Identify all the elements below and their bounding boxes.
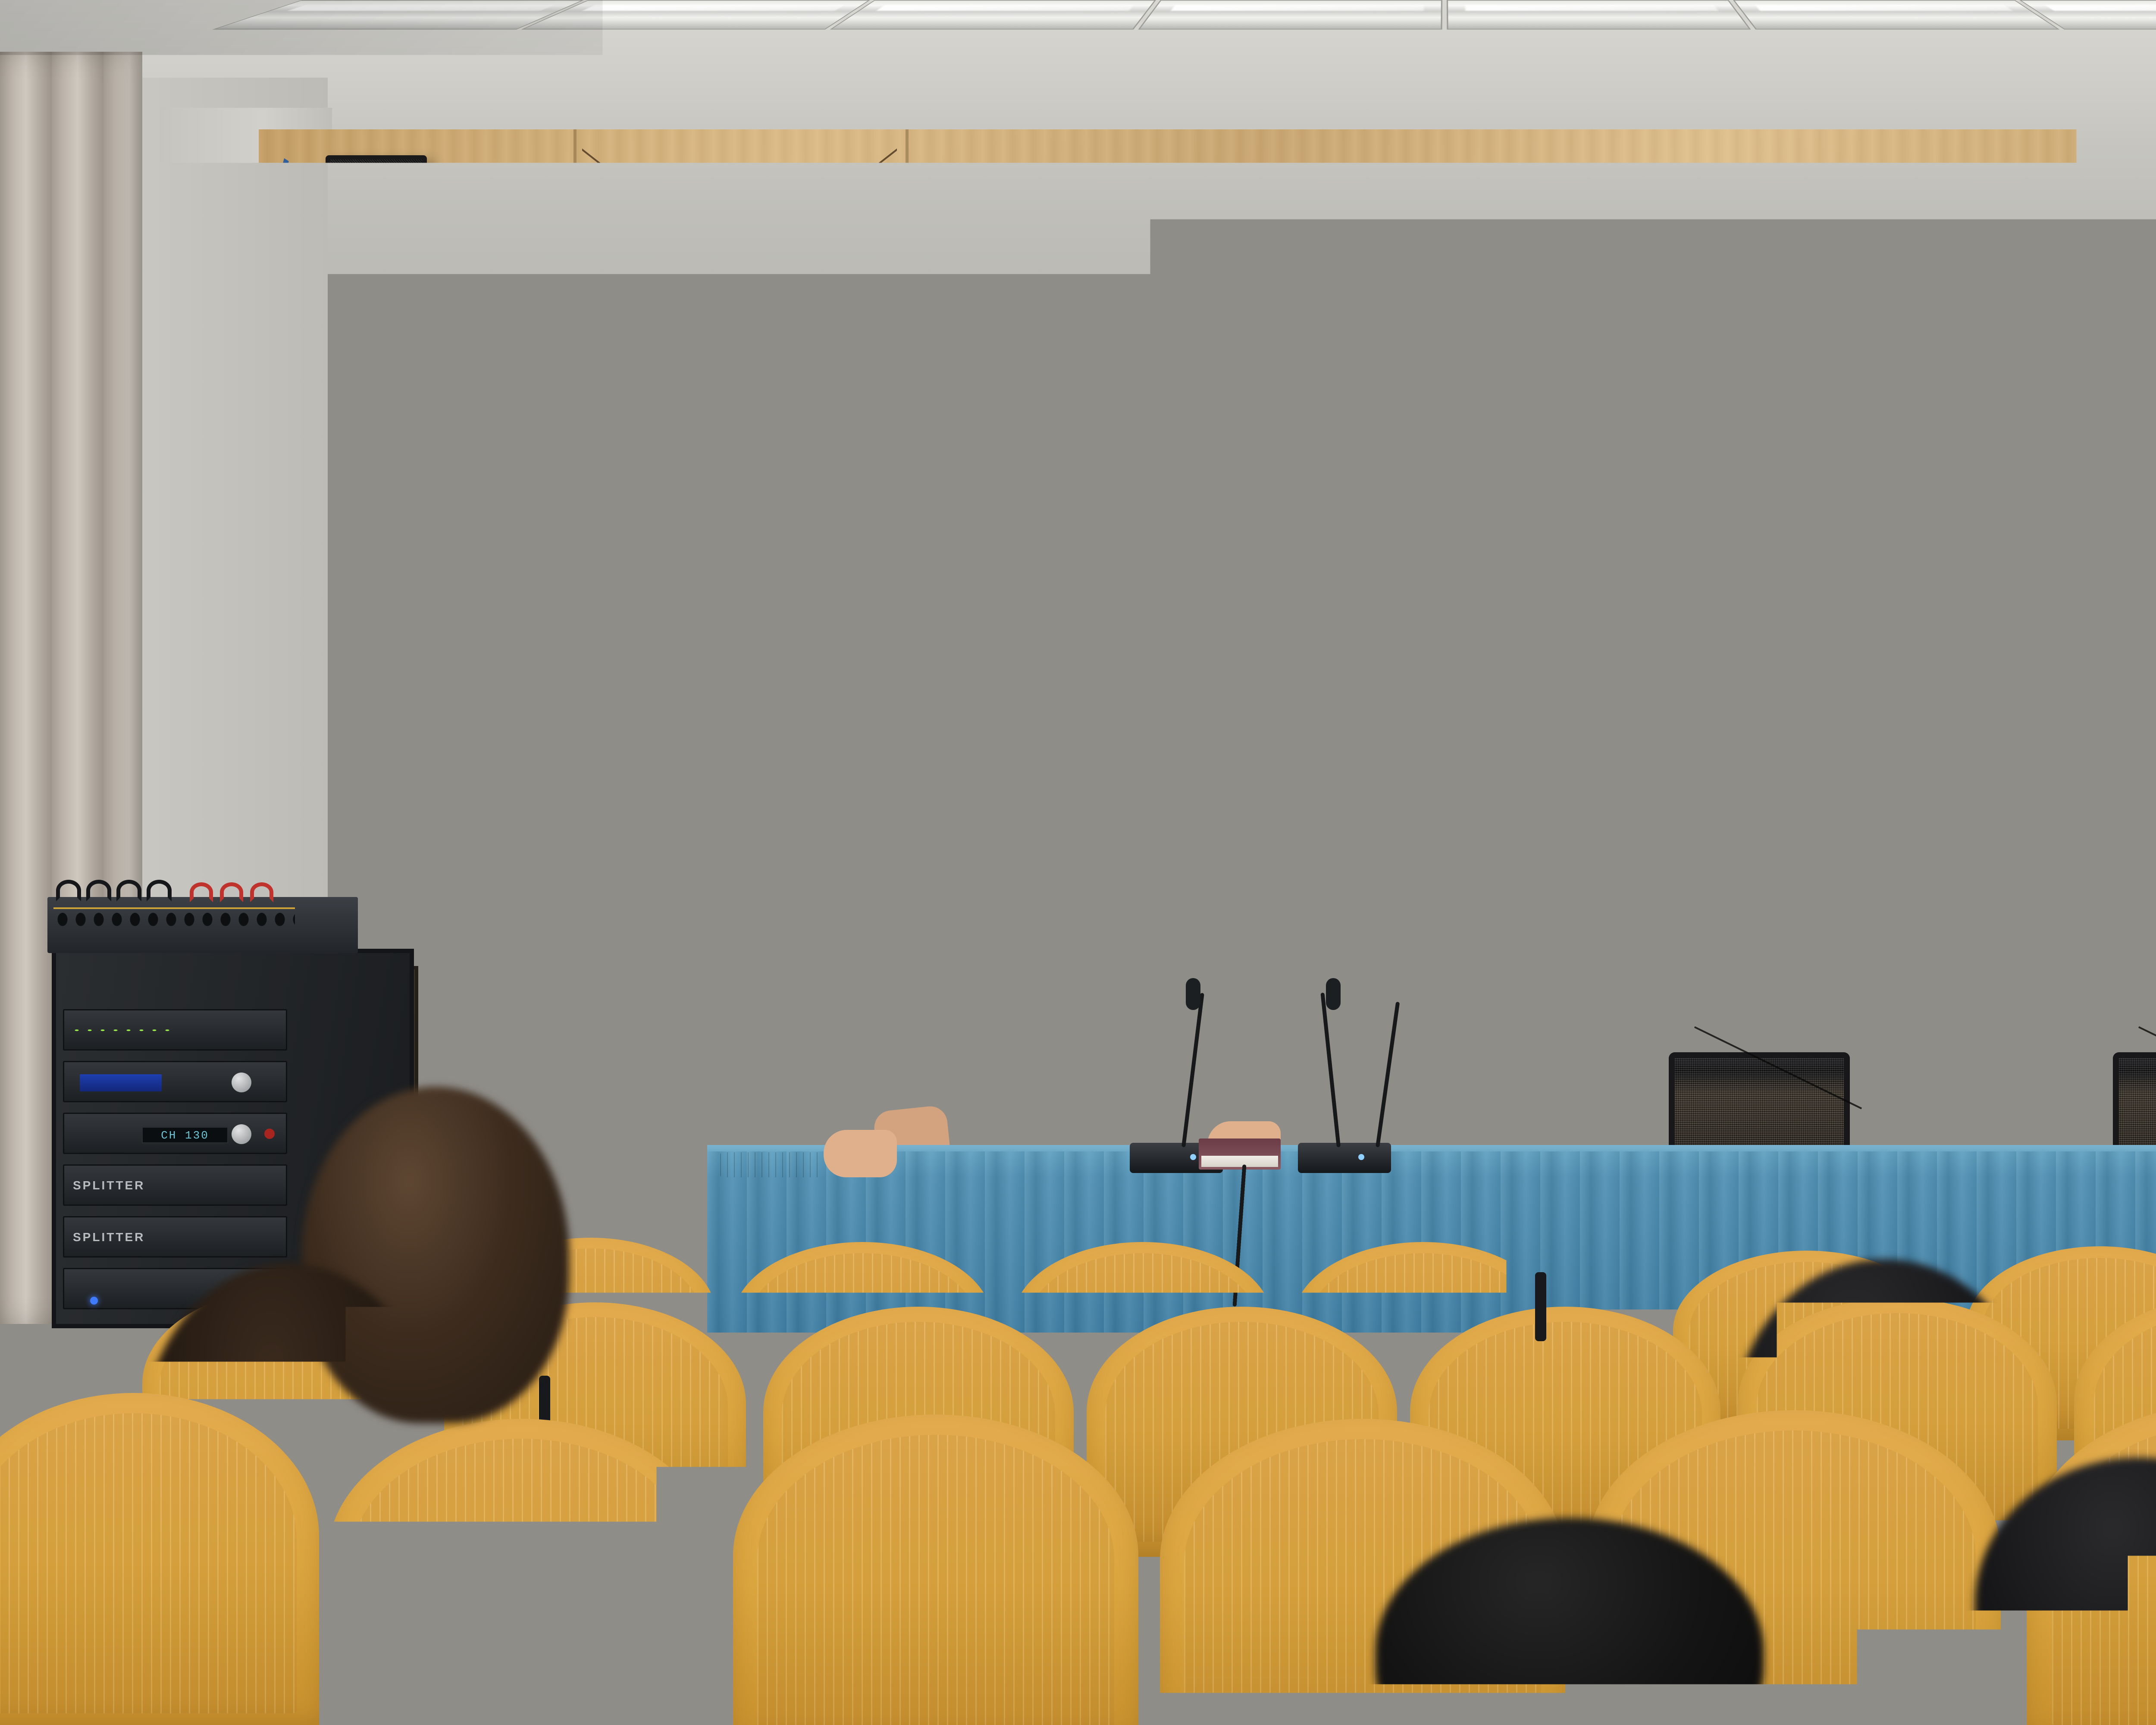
presenter-remote[interactable] <box>720 1152 819 1177</box>
mixer-red-cables <box>190 882 280 904</box>
wall-x-pattern-panel <box>582 134 897 410</box>
power-led <box>90 1297 98 1305</box>
consciousness-item: 大局意识 <box>1131 776 1411 827</box>
screen-frame: 二 党的"六大纪律"内容概要 ★ （一）政治纪律"主要违纪行为 1. 在重大原则… <box>1031 85 2156 1040</box>
pa-speaker-perforation <box>545 1039 623 1202</box>
slide-subtitle-row: （一）政治纪律"主要违纪行为 <box>1092 446 2156 476</box>
microphone-head-2 <box>1326 978 1341 1010</box>
regulation-text: 在重大原则问题上不同党中央保持一致且有实际言论、行为或者造成不良后果的，给予警告… <box>1493 943 2156 1008</box>
seat-armrest <box>1535 1272 1546 1341</box>
case-study-box: 杨某，中共党员，A大学法学院教授。杨某曾留学美国，一贯以"公知""美粉"自居，非… <box>1584 601 2156 860</box>
section-badge-label: III <box>1469 856 1500 888</box>
slide-subtitle: （一）政治纪律"主要违纪行为 <box>1092 452 1309 476</box>
ceiling-light-row-1 <box>212 0 2156 30</box>
rack-unit-processor <box>63 1061 287 1102</box>
microphone-head-1 <box>1186 978 1200 1010</box>
audience-cap <box>953 1302 1229 1483</box>
rack-unit-amplifier: CH 130 <box>63 1113 287 1154</box>
rack-unit-label: SPLITTER <box>73 1179 145 1192</box>
four-consciousness-label: "四个意识" <box>1131 644 1411 678</box>
screen-masking-top <box>1040 96 2156 260</box>
microphone-led <box>1190 1154 1196 1160</box>
consciousness-item: 政治意识 <box>1131 706 1411 756</box>
ceiling-light-fixture <box>1138 0 1442 30</box>
ceiling-light-fixture <box>1138 73 1442 103</box>
rack-unit-label: SPLITTER <box>73 1230 145 1244</box>
audio-mixer[interactable] <box>47 897 358 953</box>
wood-wall-joint <box>906 129 909 1186</box>
presenter-hair <box>1029 906 1123 962</box>
presenter-mouth <box>1065 990 1091 1006</box>
slide-divider <box>1324 457 2156 464</box>
book-on-table[interactable] <box>1199 1138 1281 1170</box>
lecture-hall-scene: ISTENSA 二 党的"六大纪律"内容概要 ★ （一）政治纪律"主要违纪行为 … <box>0 0 2156 1725</box>
status-leds <box>70 1028 169 1033</box>
consciousness-item: 核心意识 <box>1131 846 1411 898</box>
regulation-box: 在重大原则问题上不同党中央保持一致且有实际言论、行为或者造成不良后果的，给予警告… <box>1469 927 2156 1009</box>
slide-header: 二 党的"六大纪律"内容概要 ★ <box>1087 361 1647 423</box>
rack-unit-splitter-2: SPLITTER <box>63 1216 287 1258</box>
laptop[interactable]: HUAWEI <box>875 1059 1151 1167</box>
control-knob[interactable] <box>232 1124 251 1144</box>
lcd-display <box>80 1074 162 1091</box>
slide-banner-text: 1. 在重大原则问题上不同党中央保持一致 <box>1384 504 2058 555</box>
office-chair[interactable] <box>2113 1052 2156 1151</box>
microphone-led <box>1358 1154 1364 1160</box>
ceiling-light-fixture <box>830 0 1156 30</box>
wall-speaker: ISTENSA <box>326 155 427 332</box>
ceiling-light-fixture <box>1733 0 2059 30</box>
projection-screen: 二 党的"六大纪律"内容概要 ★ （一）政治纪律"主要违纪行为 1. 在重大原则… <box>1031 85 2156 1040</box>
segment-display: CH 130 <box>142 1127 228 1143</box>
office-chair[interactable] <box>1669 1052 1850 1151</box>
power-button[interactable] <box>264 1129 275 1139</box>
slide-title: 党的"六大纪律"内容概要 <box>1148 362 1585 421</box>
case-study-text: 杨某，中共党员，A大学法学院教授。杨某曾留学美国，一贯以"公知""美粉"自居，非… <box>1610 622 2156 774</box>
wall-acoustic-arch-panel <box>634 1022 746 1151</box>
star-icon: ★ <box>1613 369 1646 411</box>
glasses-icon <box>1034 956 1119 980</box>
wall-x-pattern-panel <box>582 643 897 858</box>
regulation-citation-text: 《中国共产党纪律处分条例》第四十九条： <box>1435 895 1814 930</box>
mixer-black-cables <box>56 880 185 902</box>
rack-unit-network-switch <box>63 1009 287 1051</box>
speaker-grille <box>330 160 423 328</box>
arch-panel-slots <box>652 1066 728 1110</box>
control-knob[interactable] <box>232 1073 251 1092</box>
microphone-base-2[interactable] <box>1298 1143 1391 1173</box>
ceiling-light-fixture <box>830 73 1156 103</box>
ceiling-light-fixture <box>1447 73 1751 103</box>
mixer-faders[interactable] <box>53 907 295 931</box>
speaker-brand-badge: ISTENSA <box>363 311 390 318</box>
slide-banner: 1. 在重大原则问题上不同党中央保持一致 <box>1255 482 2156 576</box>
wall-x-pattern-panel <box>582 418 897 634</box>
ceiling-light-fixture <box>1447 0 1751 30</box>
slide-section-number: 二 <box>1087 366 1129 423</box>
laptop-brand-label: HUAWEI <box>980 1090 1047 1104</box>
rack-unit-splitter-1: SPLITTER <box>63 1164 287 1206</box>
